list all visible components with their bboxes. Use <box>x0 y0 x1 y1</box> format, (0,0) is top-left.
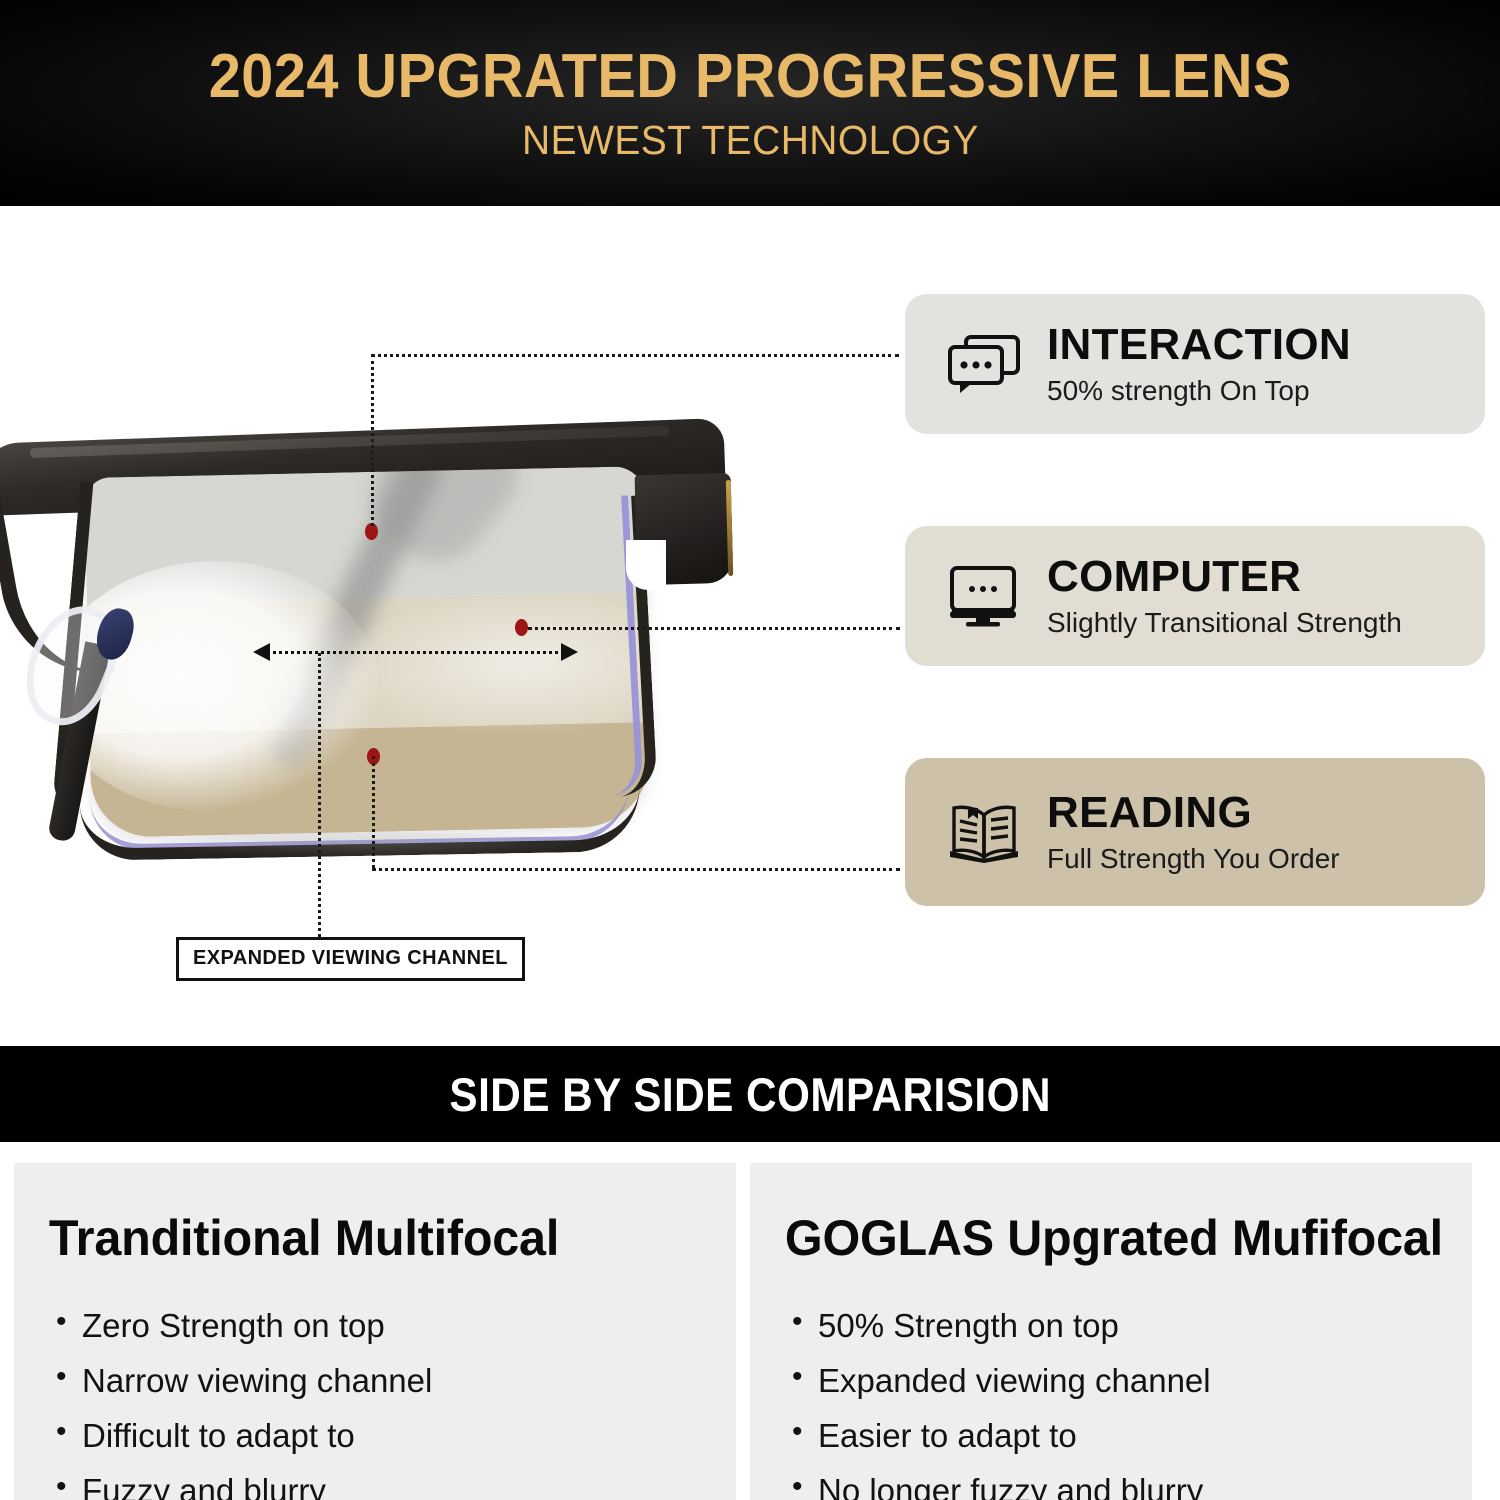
comparison-panel-traditional: Tranditional Multifocal Zero Strength on… <box>14 1163 736 1500</box>
leader-horizontal-computer <box>528 627 900 630</box>
comparison-heading: Tranditional Multifocal <box>14 1163 714 1267</box>
feature-card-text: READING Full Strength You Order <box>1047 790 1340 875</box>
comparison-list: 50% Strength on top Expanded viewing cha… <box>750 1267 1472 1500</box>
marker-dot-computer <box>515 619 528 636</box>
feature-card-computer[interactable]: COMPUTER Slightly Transitional Strength <box>905 526 1485 666</box>
list-item: Zero Strength on top <box>56 1309 736 1342</box>
open-book-icon <box>941 799 1027 865</box>
feature-card-title: COMPUTER <box>1047 554 1402 600</box>
page-title: 2024 UPGRATED PROGRESSIVE LENS <box>208 46 1291 108</box>
feature-card-text: COMPUTER Slightly Transitional Strength <box>1047 554 1402 639</box>
drop-shadow <box>150 832 590 858</box>
leader-vertical-reading <box>372 756 375 868</box>
list-item: Easier to adapt to <box>792 1419 1472 1452</box>
leader-horizontal-reading <box>372 868 900 871</box>
feature-card-reading[interactable]: READING Full Strength You Order <box>905 758 1485 906</box>
list-item: Expanded viewing channel <box>792 1364 1472 1397</box>
comparison-banner: SIDE BY SIDE COMPARISION <box>0 1046 1500 1142</box>
feature-card-subtitle: Full Strength You Order <box>1047 844 1340 875</box>
comparison-panel-goglas: GOGLAS Upgrated Mufifocal 50% Strength o… <box>750 1163 1472 1500</box>
viewing-channel-measure <box>253 643 578 661</box>
leader-horizontal-interaction <box>371 354 899 357</box>
infographic-page: 2024 UPGRATED PROGRESSIVE LENS NEWEST TE… <box>0 0 1500 1500</box>
measure-line <box>267 651 564 654</box>
comparison-list: Zero Strength on top Narrow viewing chan… <box>14 1267 736 1500</box>
feature-card-interaction[interactable]: INTERACTION 50% strength On Top <box>905 294 1485 434</box>
page-subtitle: NEWEST TECHNOLOGY <box>522 120 979 161</box>
feature-card-text: INTERACTION 50% strength On Top <box>1047 322 1351 407</box>
hero-section: EXPANDED VIEWING CHANNEL INTERACTION 50%… <box>0 206 1500 1046</box>
list-item: Difficult to adapt to <box>56 1419 736 1452</box>
expanded-viewing-channel-label: EXPANDED VIEWING CHANNEL <box>176 937 525 981</box>
arrow-head-right-icon <box>561 643 578 661</box>
feature-card-subtitle: Slightly Transitional Strength <box>1047 608 1402 639</box>
list-item: No longer fuzzy and blurry <box>792 1474 1472 1500</box>
comparison-banner-title: SIDE BY SIDE COMPARISION <box>449 1067 1051 1122</box>
list-item: Narrow viewing channel <box>56 1364 736 1397</box>
monitor-icon <box>941 563 1027 629</box>
leader-vertical-channel <box>318 653 321 943</box>
feature-card-subtitle: 50% strength On Top <box>1047 376 1351 407</box>
feature-card-title: INTERACTION <box>1047 322 1351 368</box>
frame-endpiece-notch <box>626 540 666 590</box>
chat-bubbles-icon <box>941 333 1027 395</box>
leader-vertical-interaction <box>371 354 374 526</box>
list-item: 50% Strength on top <box>792 1309 1472 1342</box>
header-banner: 2024 UPGRATED PROGRESSIVE LENS NEWEST TE… <box>0 0 1500 206</box>
feature-card-title: READING <box>1047 790 1340 836</box>
comparison-heading: GOGLAS Upgrated Mufifocal <box>750 1163 1450 1267</box>
list-item: Fuzzy and blurry <box>56 1474 736 1500</box>
